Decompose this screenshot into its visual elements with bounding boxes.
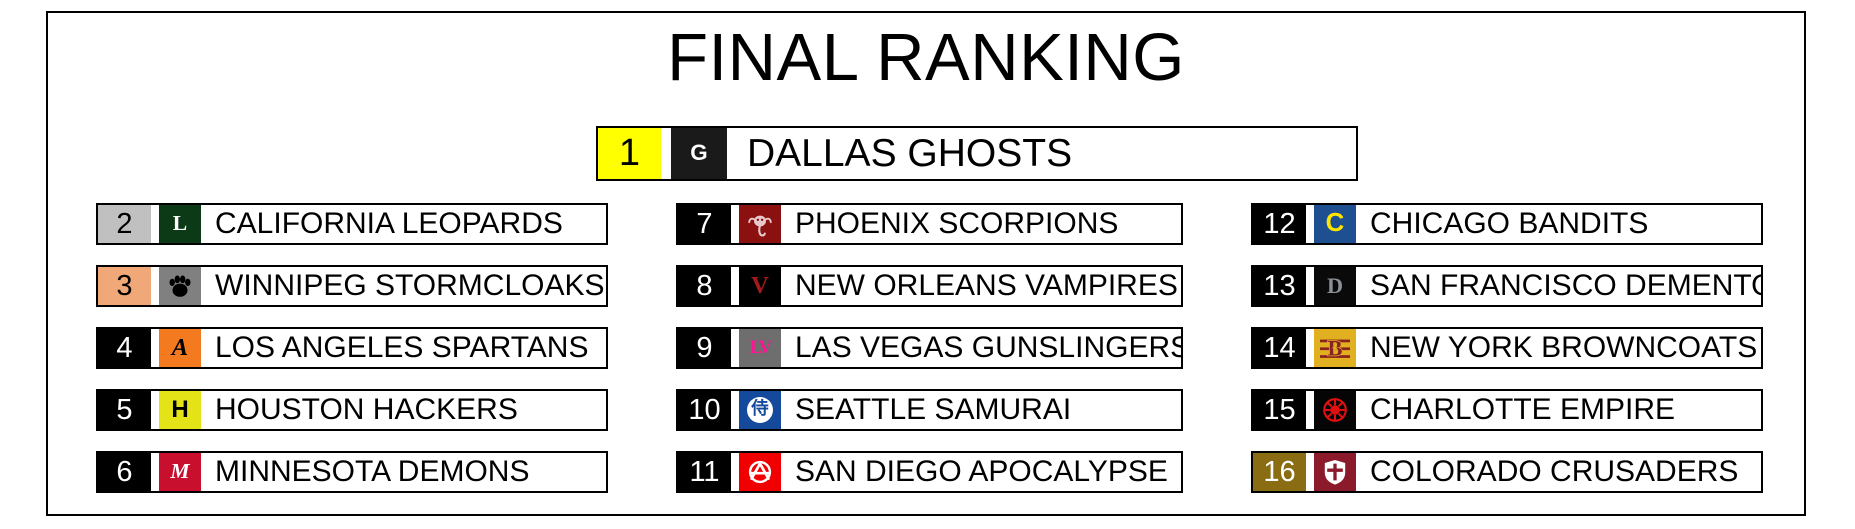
rank-number-9: 9 [678,329,731,367]
ranking-row-13[interactable]: 13DSAN FRANCISCO DEMENTORS [1251,265,1763,307]
team-name-3: WINNIPEG STORMCLOAKS [201,267,606,305]
logo-spacer [731,329,739,367]
team-name-7: PHOENIX SCORPIONS [781,205,1181,243]
logo-spacer [151,267,159,305]
ranking-row-11[interactable]: 11SAN DIEGO APOCALYPSE [676,451,1183,493]
team-name-11: SAN DIEGO APOCALYPSE [781,453,1181,491]
logo-spacer [661,128,671,179]
san-diego-apocalypse-logo [739,453,781,491]
rank-number-14: 14 [1253,329,1306,367]
rank-number-1: 1 [598,128,661,179]
team-name-8: NEW ORLEANS VAMPIRES [781,267,1181,305]
logo-spacer [1306,391,1314,429]
seattle-samurai-logo: 侍 [739,391,781,429]
team-name-14: NEW YORK BROWNCOATS [1356,329,1761,367]
dallas-ghosts-logo: G [671,128,727,179]
winnipeg-stormcloaks-logo [159,267,201,305]
new-york-browncoats-logo: B [1314,329,1356,367]
logo-spacer [1306,453,1314,491]
rank-number-2: 2 [98,205,151,243]
los-angeles-spartans-logo: A [159,329,201,367]
ranking-row-9[interactable]: 9LVLAS VEGAS GUNSLINGERS [676,327,1183,369]
rank-number-11: 11 [678,453,731,491]
logo-spacer [1306,267,1314,305]
logo-spacer [731,267,739,305]
logo-spacer [731,391,739,429]
rank-number-10: 10 [678,391,731,429]
team-name-12: CHICAGO BANDITS [1356,205,1761,243]
logo-spacer [151,329,159,367]
team-name-15: CHARLOTTE EMPIRE [1356,391,1761,429]
champion-row[interactable]: 1GDALLAS GHOSTS [596,126,1358,181]
ranking-row-6[interactable]: 6MMINNESOTA DEMONS [96,451,608,493]
ranking-row-3[interactable]: 3WINNIPEG STORMCLOAKS [96,265,608,307]
california-leopards-logo: L [159,205,201,243]
charlotte-empire-logo [1314,391,1356,429]
rank-number-8: 8 [678,267,731,305]
new-orleans-vampires-logo: V [739,267,781,305]
san-francisco-dementors-logo: D [1314,267,1356,305]
ranking-row-12[interactable]: 12CCHICAGO BANDITS [1251,203,1763,245]
minnesota-demons-logo: M [159,453,201,491]
team-name-10: SEATTLE SAMURAI [781,391,1181,429]
chicago-bandits-logo: C [1314,205,1356,243]
page-title: FINAL RANKING [48,19,1804,97]
team-name-4: LOS ANGELES SPARTANS [201,329,606,367]
rank-number-4: 4 [98,329,151,367]
ranking-row-2[interactable]: 2LCALIFORNIA LEOPARDS [96,203,608,245]
ranking-row-4[interactable]: 4ALOS ANGELES SPARTANS [96,327,608,369]
final-ranking-page: FINAL RANKING 1GDALLAS GHOSTS2LCALIFORNI… [0,0,1855,529]
ranking-row-7[interactable]: 7PHOENIX SCORPIONS [676,203,1183,245]
ranking-row-8[interactable]: 8VNEW ORLEANS VAMPIRES [676,265,1183,307]
rank-number-6: 6 [98,453,151,491]
ranking-row-5[interactable]: 5HHOUSTON HACKERS [96,389,608,431]
ranking-row-10[interactable]: 10侍SEATTLE SAMURAI [676,389,1183,431]
phoenix-scorpions-logo [739,205,781,243]
team-name-9: LAS VEGAS GUNSLINGERS [781,329,1181,367]
logo-spacer [151,391,159,429]
team-name-6: MINNESOTA DEMONS [201,453,606,491]
ranking-row-14[interactable]: 14BNEW YORK BROWNCOATS [1251,327,1763,369]
rank-number-12: 12 [1253,205,1306,243]
team-name-1: DALLAS GHOSTS [727,128,1356,179]
ranking-frame: FINAL RANKING 1GDALLAS GHOSTS2LCALIFORNI… [46,11,1806,516]
rank-number-3: 3 [98,267,151,305]
team-name-16: COLORADO CRUSADERS [1356,453,1761,491]
logo-spacer [1306,205,1314,243]
rank-number-16: 16 [1253,453,1306,491]
rank-number-15: 15 [1253,391,1306,429]
logo-spacer [1306,329,1314,367]
ranking-row-16[interactable]: 16COLORADO CRUSADERS [1251,451,1763,493]
ranking-row-15[interactable]: 15CHARLOTTE EMPIRE [1251,389,1763,431]
logo-spacer [151,453,159,491]
las-vegas-gunslingers-logo: LV [739,329,781,367]
team-name-5: HOUSTON HACKERS [201,391,606,429]
team-name-13: SAN FRANCISCO DEMENTORS [1356,267,1761,305]
team-name-2: CALIFORNIA LEOPARDS [201,205,606,243]
rank-number-7: 7 [678,205,731,243]
colorado-crusaders-logo [1314,453,1356,491]
houston-hackers-logo: H [159,391,201,429]
logo-spacer [151,205,159,243]
rank-number-13: 13 [1253,267,1306,305]
logo-spacer [731,453,739,491]
rank-number-5: 5 [98,391,151,429]
logo-spacer [731,205,739,243]
